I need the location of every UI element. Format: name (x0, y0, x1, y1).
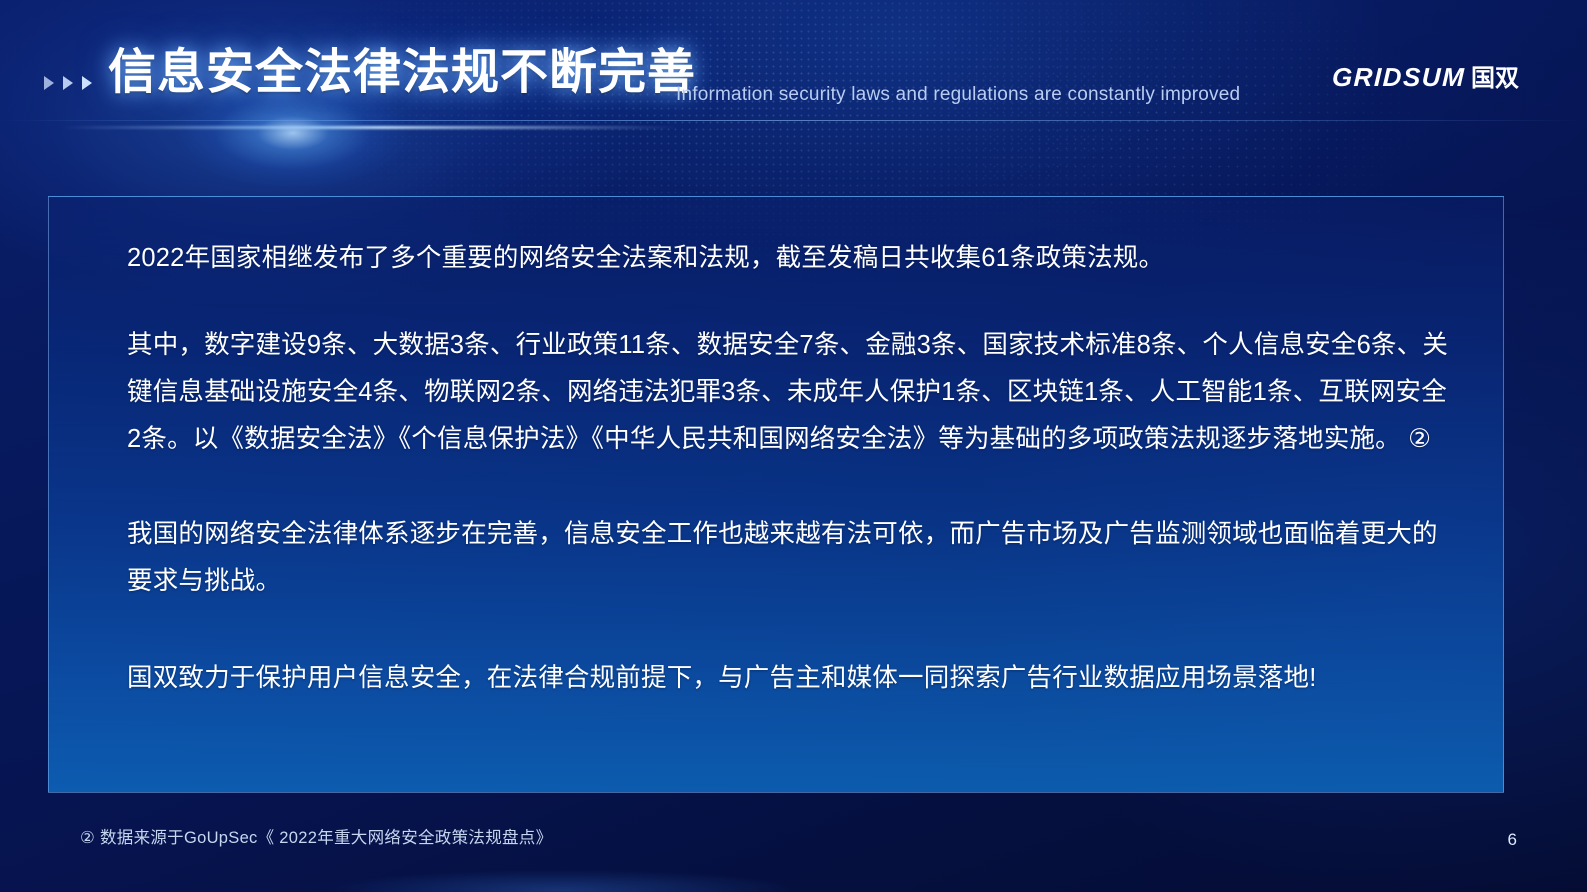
paragraph-summary: 2022年国家相继发布了多个重要的网络安全法案和法规，截至发稿日共收集61条政策… (127, 235, 1451, 282)
page-title: 信息安全法律法规不断完善 (108, 49, 696, 97)
paragraph-commitment: 国双致力于保护用户信息安全，在法律合规前提下，与广告主和媒体一同探索广告行业数据… (127, 655, 1451, 702)
paragraph-assessment: 我国的网络安全法律体系逐步在完善，信息安全工作也越来越有法可依，而广告市场及广告… (127, 511, 1451, 605)
paragraph-breakdown: 其中，数字建设9条、大数据3条、行业政策11条、数据安全7条、金融3条、国家技术… (127, 322, 1451, 463)
chevron-arrows-icon (44, 76, 92, 90)
logo-chinese-text: 国双 (1471, 58, 1519, 93)
page-number: 6 (1508, 830, 1517, 850)
content-panel-inner: 2022年国家相继发布了多个重要的网络安全法案和法规，截至发稿日共收集61条政策… (127, 235, 1451, 702)
slide-root: 信息安全法律法规不断完善 Information security laws a… (0, 0, 1587, 892)
gridsum-logo: GRIDSUM 国双 (1332, 58, 1519, 93)
triangle-right-icon (63, 76, 73, 90)
content-panel: 2022年国家相继发布了多个重要的网络安全法案和法规，截至发稿日共收集61条政策… (48, 196, 1504, 793)
footer-glow (330, 870, 790, 892)
source-footnote: ② 数据来源于GoUpSec《 2022年重大网络安全政策法规盘点》 (80, 824, 552, 848)
page-subtitle: Information security laws and regulation… (676, 84, 1240, 106)
triangle-right-icon (82, 76, 92, 90)
triangle-right-icon (44, 76, 54, 90)
logo-latin-text: GRIDSUM (1331, 62, 1465, 93)
slide-header: 信息安全法律法规不断完善 Information security laws a… (0, 0, 1587, 128)
